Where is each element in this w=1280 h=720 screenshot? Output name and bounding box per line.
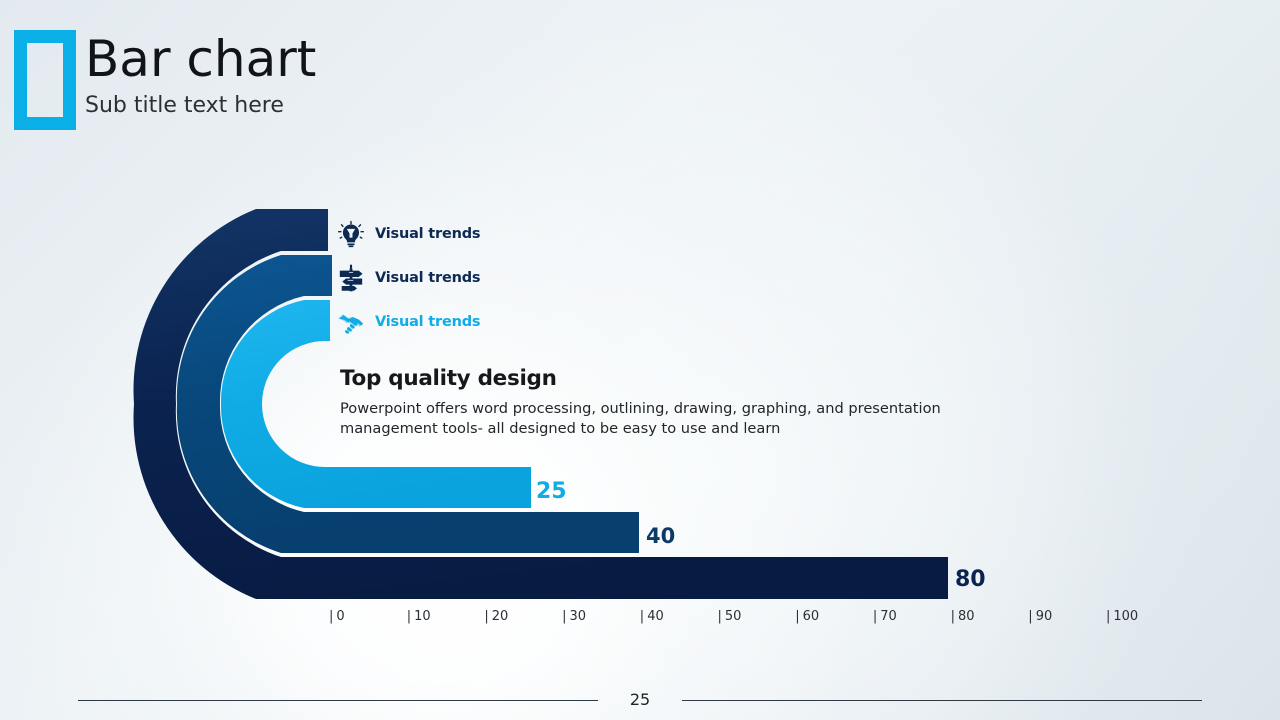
legend-label-2: Visual trends bbox=[375, 314, 480, 330]
axis-tick-60: |60 bbox=[795, 609, 819, 624]
axis-tick-mark: | bbox=[407, 609, 411, 624]
page-number: 25 bbox=[0, 690, 1280, 709]
axis-tick-mark: | bbox=[951, 609, 955, 624]
title-accent-mark bbox=[14, 30, 76, 130]
axis-tick-label: 90 bbox=[1036, 609, 1053, 624]
description-body: Powerpoint offers word processing, outli… bbox=[340, 399, 955, 439]
bar-value-label-80: 80 bbox=[955, 567, 986, 592]
axis-tick-mark: | bbox=[329, 609, 333, 624]
slide-canvas: Bar chart Sub title text here bbox=[0, 0, 1280, 720]
description-block: Top quality design Powerpoint offers wor… bbox=[340, 366, 955, 439]
legend-label-1: Visual trends bbox=[375, 270, 480, 286]
bar-value-label-25: 25 bbox=[536, 479, 567, 504]
axis-tick-30: |30 bbox=[562, 609, 586, 624]
axis-tick-90: |90 bbox=[1028, 609, 1052, 624]
title-group: Bar chart Sub title text here bbox=[85, 32, 316, 117]
axis-tick-label: 60 bbox=[803, 609, 820, 624]
lightbulb-icon bbox=[337, 220, 365, 248]
handshake-icon bbox=[337, 308, 365, 336]
legend-item-2[interactable]: Visual trends bbox=[337, 300, 480, 344]
axis-tick-label: 0 bbox=[336, 609, 344, 624]
slide-footer: 25 bbox=[0, 690, 1280, 720]
axis-tick-mark: | bbox=[718, 609, 722, 624]
axis-tick-label: 10 bbox=[414, 609, 431, 624]
legend-item-0[interactable]: Visual trends bbox=[337, 212, 480, 256]
description-heading: Top quality design bbox=[340, 366, 955, 391]
axis-tick-40: |40 bbox=[640, 609, 664, 624]
axis-tick-mark: | bbox=[1106, 609, 1110, 624]
axis-tick-80: |80 bbox=[951, 609, 975, 624]
axis-tick-mark: | bbox=[640, 609, 644, 624]
bar-value-label-40: 40 bbox=[646, 524, 675, 548]
axis-tick-0: |0 bbox=[329, 609, 345, 624]
page-subtitle: Sub title text here bbox=[85, 95, 316, 117]
legend-item-1[interactable]: Visual trends bbox=[337, 256, 480, 300]
axis-tick-label: 100 bbox=[1113, 609, 1138, 624]
axis-tick-mark: | bbox=[795, 609, 799, 624]
axis-tick-10: |10 bbox=[407, 609, 431, 624]
axis-tick-50: |50 bbox=[718, 609, 742, 624]
legend-label-0: Visual trends bbox=[375, 226, 480, 242]
axis-tick-20: |20 bbox=[484, 609, 508, 624]
chart-legend: Visual trends Visual trends bbox=[337, 212, 480, 344]
axis-tick-label: 80 bbox=[958, 609, 975, 624]
axis-tick-mark: | bbox=[873, 609, 877, 624]
axis-tick-mark: | bbox=[1028, 609, 1032, 624]
axis-tick-mark: | bbox=[484, 609, 488, 624]
axis-tick-label: 70 bbox=[880, 609, 897, 624]
axis-tick-label: 20 bbox=[492, 609, 509, 624]
page-title: Bar chart bbox=[85, 32, 316, 87]
axis-tick-100: |100 bbox=[1106, 609, 1138, 624]
axis-tick-label: 40 bbox=[647, 609, 664, 624]
axis-tick-label: 50 bbox=[725, 609, 742, 624]
chart-x-axis: |0|10|20|30|40|50|60|70|80|90|100 bbox=[329, 609, 1159, 631]
axis-tick-70: |70 bbox=[873, 609, 897, 624]
axis-tick-mark: | bbox=[562, 609, 566, 624]
signpost-icon bbox=[337, 264, 365, 292]
axis-tick-label: 30 bbox=[569, 609, 586, 624]
